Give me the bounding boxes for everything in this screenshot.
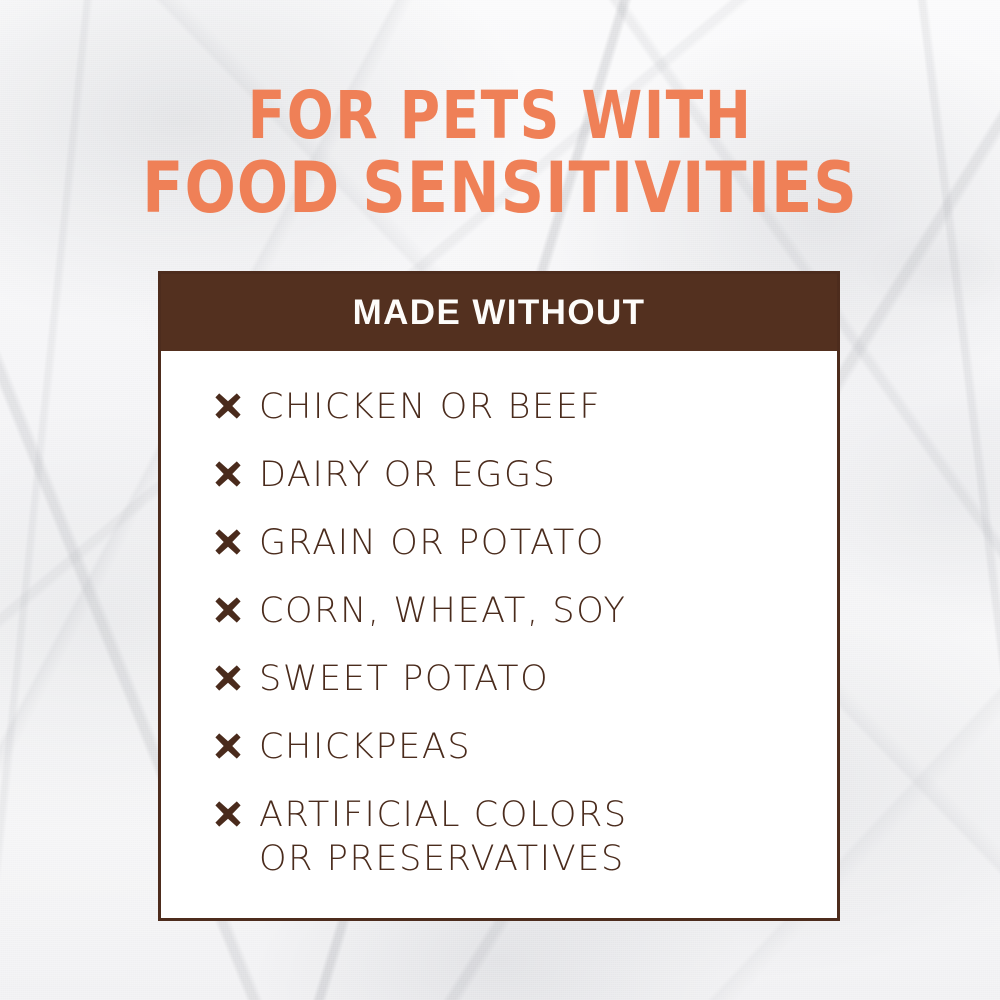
x-mark-icon	[213, 391, 243, 421]
marketing-graphic: FOR PETS WITH FOOD SENSITIVITIES MADE WI…	[0, 0, 1000, 1000]
headline-line-1: FOR PETS WITH	[35, 80, 965, 152]
card-header-title: MADE WITHOUT	[353, 295, 646, 330]
list-item: CORN, WHEAT, SOY	[213, 589, 807, 633]
x-mark-icon	[213, 595, 243, 625]
page-title: FOR PETS WITH FOOD SENSITIVITIES	[0, 80, 1000, 224]
list-item: SWEET POTATO	[213, 657, 807, 701]
x-mark-icon	[213, 527, 243, 557]
list-item-label: GRAIN OR POTATO	[259, 521, 605, 565]
list-item-label: SWEET POTATO	[259, 657, 549, 701]
list-item-label: CHICKPEAS	[259, 725, 471, 769]
x-mark-icon	[213, 663, 243, 693]
list-item: CHICKPEAS	[213, 725, 807, 769]
made-without-card: MADE WITHOUT CHICKEN OR BEEF	[158, 271, 840, 921]
list-item: DAIRY OR EGGS	[213, 453, 807, 497]
list-item: CHICKEN OR BEEF	[213, 385, 807, 429]
headline-line-2: FOOD SENSITIVITIES	[20, 152, 980, 224]
excluded-ingredients-list: CHICKEN OR BEEF DAIRY OR EGGS	[161, 385, 837, 881]
list-item-label: DAIRY OR EGGS	[259, 453, 557, 497]
list-item: ARTIFICIAL COLORS OR PRESERVATIVES	[213, 793, 807, 881]
card-header-bar: MADE WITHOUT	[161, 274, 837, 351]
card-body: CHICKEN OR BEEF DAIRY OR EGGS	[161, 351, 837, 918]
x-mark-icon	[213, 731, 243, 761]
list-item: GRAIN OR POTATO	[213, 521, 807, 565]
x-mark-icon	[213, 799, 243, 829]
list-item-label: ARTIFICIAL COLORS OR PRESERVATIVES	[259, 793, 628, 881]
x-mark-icon	[213, 459, 243, 489]
list-item-label: CORN, WHEAT, SOY	[259, 589, 626, 633]
list-item-label: CHICKEN OR BEEF	[259, 385, 601, 429]
